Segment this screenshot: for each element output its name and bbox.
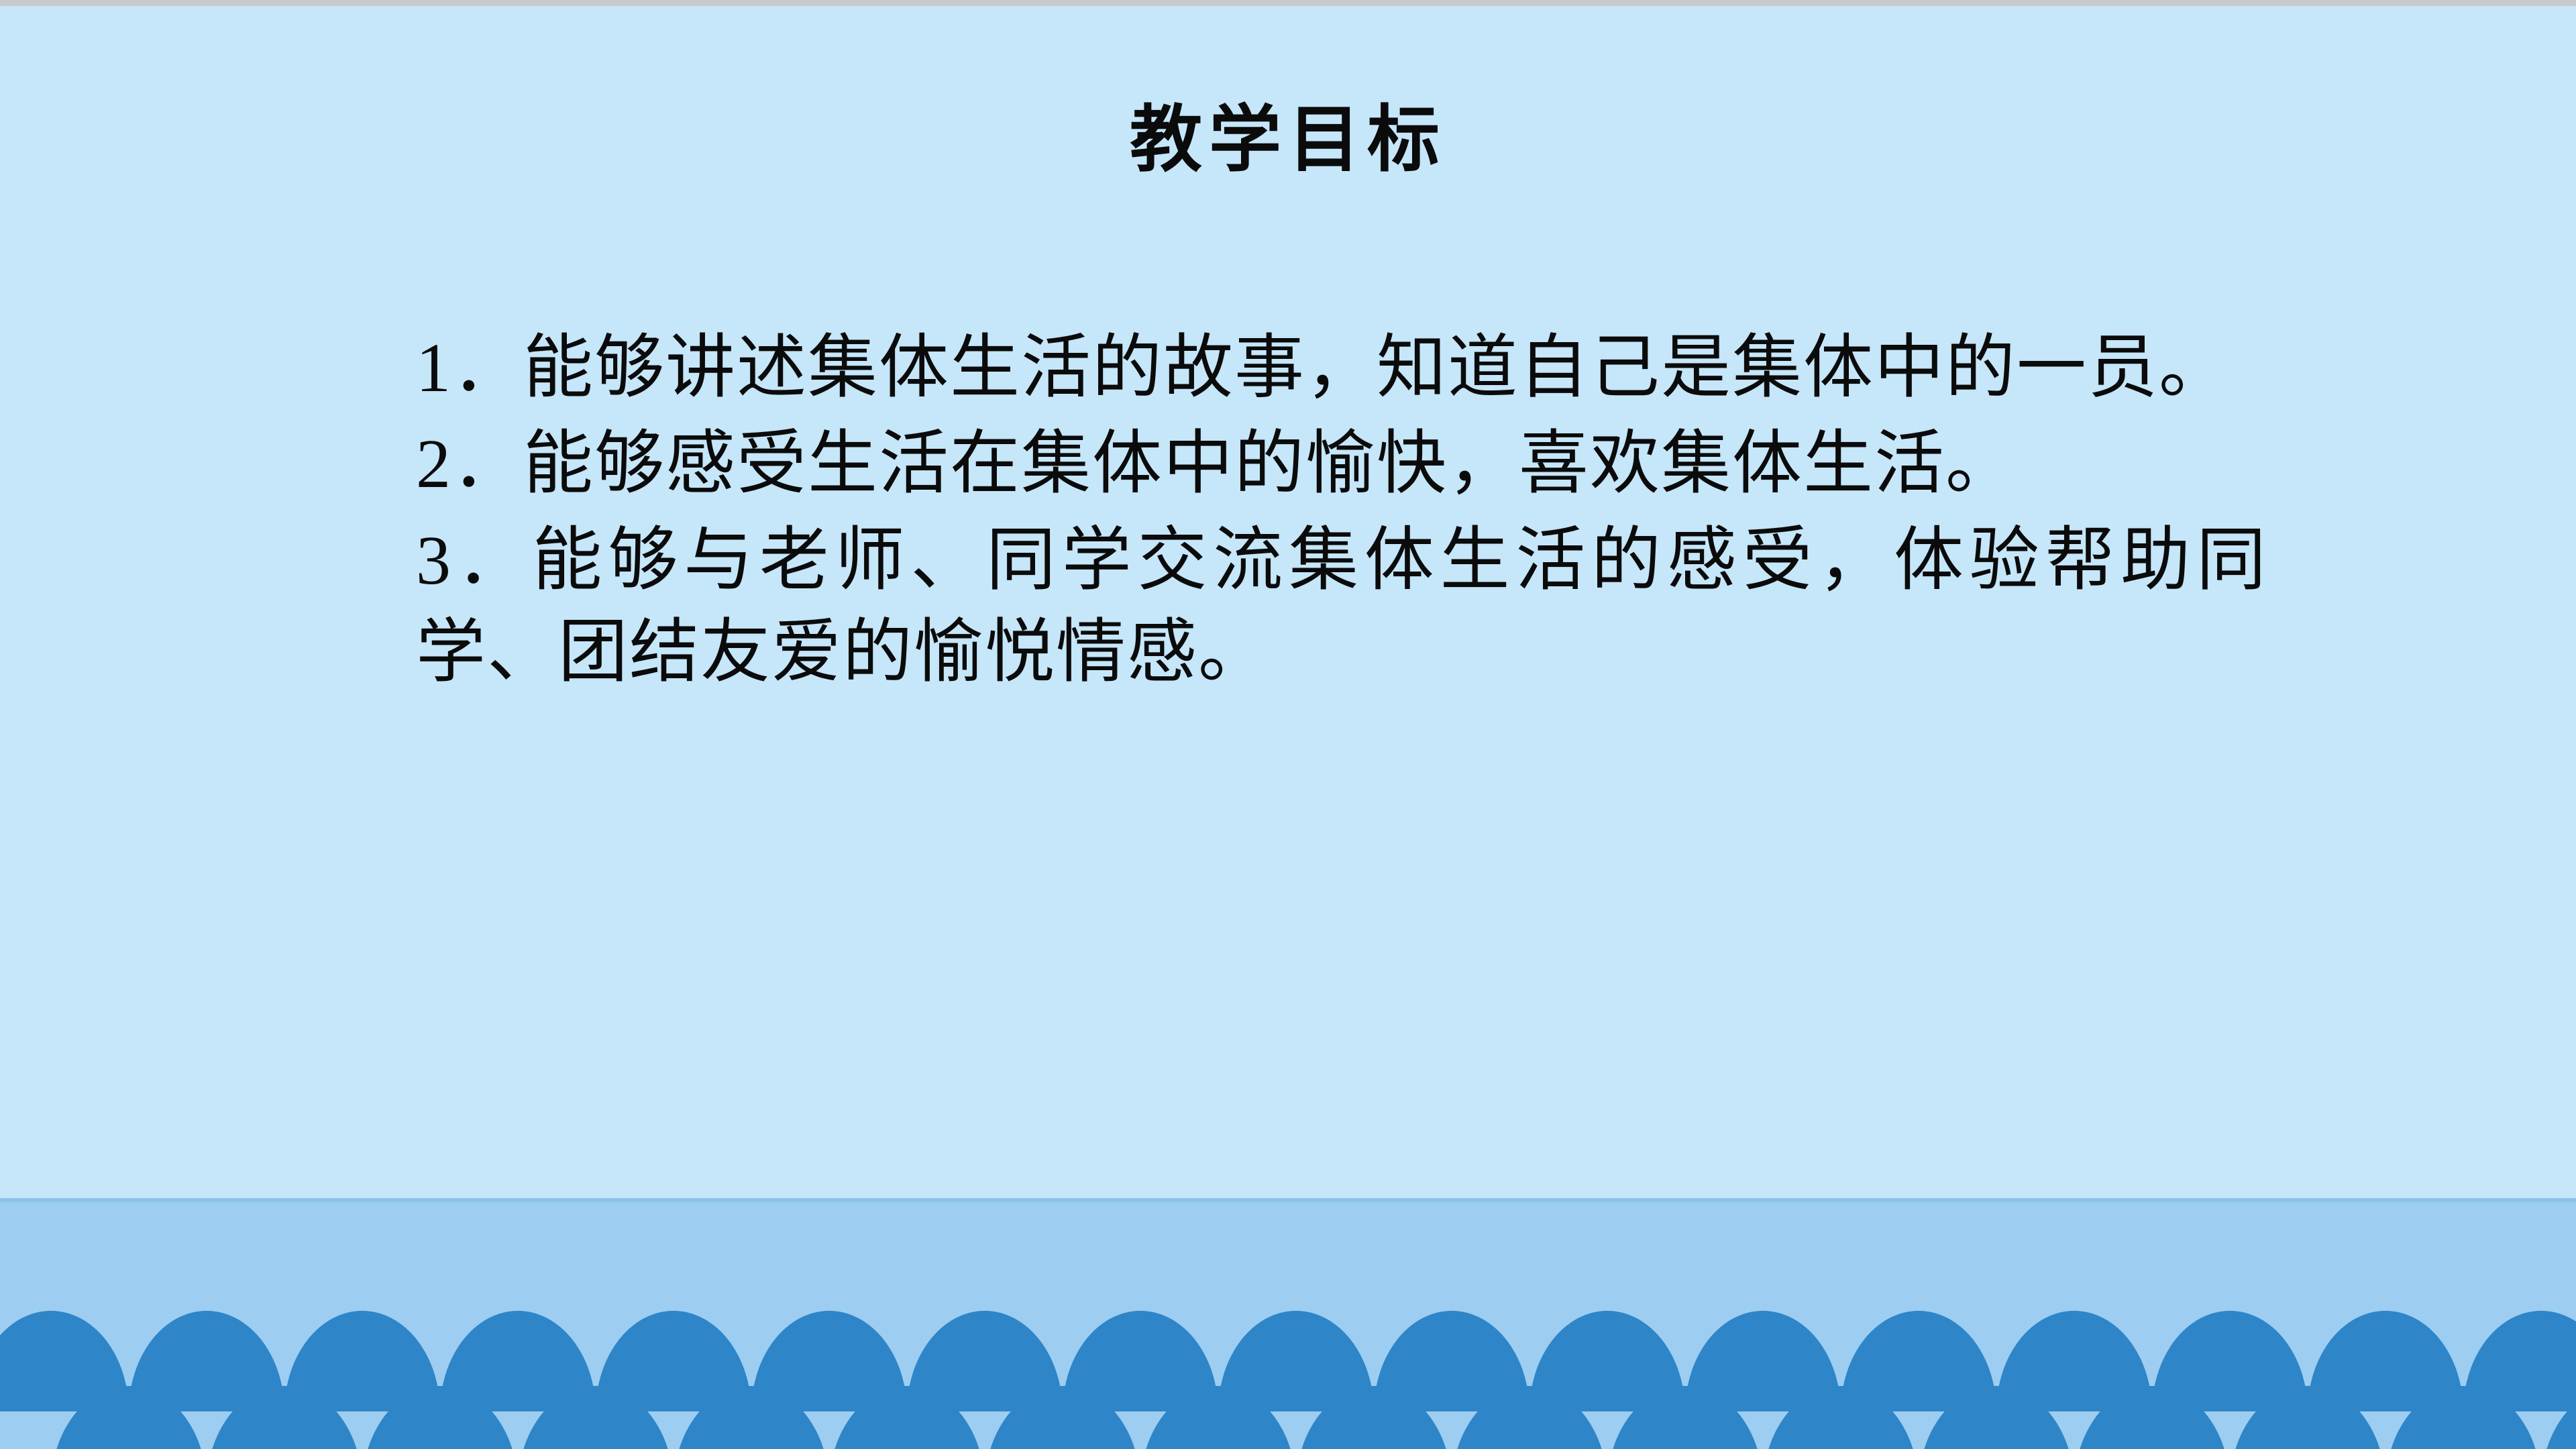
scallop-dome — [2074, 1386, 2230, 1449]
goal-item-1: 1．能够讲述集体生活的故事，知道自己是集体中的一员。 — [416, 322, 2267, 414]
decorative-footer — [0, 1198, 2576, 1449]
scallop-dome — [2541, 1386, 2576, 1449]
scallop-dome — [362, 1386, 518, 1449]
page-title: 教学目标 — [0, 99, 2576, 182]
scallop-dome — [2385, 1386, 2541, 1449]
scallop-dome — [674, 1386, 829, 1449]
scallop-dome — [2230, 1386, 2385, 1449]
goal-item-2: 2．能够感受生活在集体中的愉快，喜欢集体生活。 — [416, 418, 2267, 510]
footer-edge-line — [0, 1198, 2576, 1202]
scallop-dome — [829, 1386, 985, 1449]
scallop-dome — [1452, 1386, 1607, 1449]
scallop-dome — [207, 1386, 362, 1449]
goal-item-3: 3．能够与老师、同学交流集体生活的感受，体验帮助同学、团结友爱的愉悦情感。 — [416, 515, 2267, 699]
scallop-dome — [985, 1386, 1140, 1449]
scallop-dome — [518, 1386, 674, 1449]
top-rule-divider — [0, 0, 2576, 6]
scallop-dome — [1763, 1386, 1919, 1449]
scallop-dome — [1296, 1386, 1452, 1449]
slide-canvas: 教学目标 1．能够讲述集体生活的故事，知道自己是集体中的一员。 2．能够感受生活… — [0, 0, 2576, 1449]
scallop-dome — [1140, 1386, 1296, 1449]
teaching-goals-list: 1．能够讲述集体生活的故事，知道自己是集体中的一员。 2．能够感受生活在集体中的… — [416, 322, 2267, 702]
scallop-dome — [1607, 1386, 1763, 1449]
scallop-dome — [1919, 1386, 2074, 1449]
scallop-dome — [51, 1386, 207, 1449]
scallop-row-lower — [0, 1386, 2576, 1449]
